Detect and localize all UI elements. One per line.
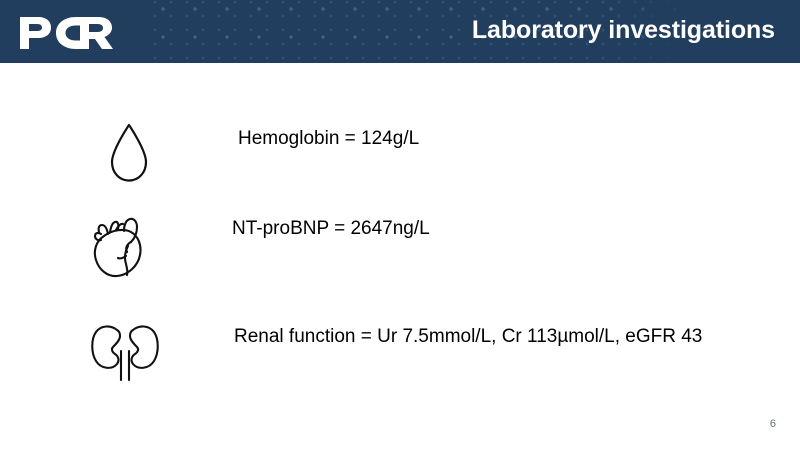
blood-drop-icon <box>105 122 153 191</box>
lab-value-ntprobnp: NT-proBNP = 2647ng/L <box>232 212 430 241</box>
icon-cell-renal <box>0 320 234 389</box>
slide-header: Laboratory investigations <box>0 0 800 63</box>
lab-value-renal: Renal function = Ur 7.5mmol/L, Cr 113µmo… <box>234 320 702 349</box>
slide-title: Laboratory investigations <box>472 12 775 48</box>
pcr-logo <box>18 13 128 53</box>
icon-cell-ntprobnp <box>0 212 232 289</box>
lab-row-renal: Renal function = Ur 7.5mmol/L, Cr 113µmo… <box>0 320 800 389</box>
kidneys-icon <box>87 320 163 389</box>
lab-row-hemoglobin: Hemoglobin = 124g/L <box>0 122 800 191</box>
lab-row-ntprobnp: NT-proBNP = 2647ng/L <box>0 212 800 289</box>
slide: Laboratory investigations Hemoglobin = 1… <box>0 0 800 450</box>
heart-icon <box>90 212 156 289</box>
icon-cell-hemoglobin <box>0 122 238 191</box>
page-number: 6 <box>770 418 776 430</box>
lab-value-hemoglobin: Hemoglobin = 124g/L <box>238 122 419 151</box>
